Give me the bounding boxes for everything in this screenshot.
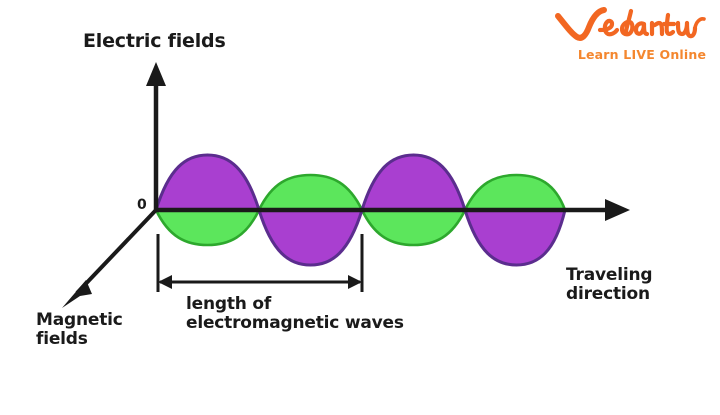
magnetic-fields-label: Magnetic fields <box>36 311 123 349</box>
vedantu-logo: Learn LIVE Online <box>552 4 712 66</box>
origin-label: 0 <box>137 198 147 214</box>
horizontal-axis-arrowhead <box>605 199 630 221</box>
wavelength-label: length of electromagnetic waves <box>186 295 404 333</box>
vedantu-tagline: Learn LIVE Online <box>572 47 712 62</box>
diagram-canvas: Electric fields Magnetic fields length o… <box>0 0 720 415</box>
wavelength-arrowhead-left <box>158 275 172 289</box>
traveling-direction-label: Traveling direction <box>566 266 652 304</box>
electric-fields-label: Electric fields <box>83 31 226 52</box>
vertical-axis-arrowhead <box>146 62 166 86</box>
wavelength-arrowhead-right <box>348 275 362 289</box>
diagonal-axis <box>62 210 156 308</box>
diagonal-axis-arrowhead <box>62 280 92 308</box>
vedantu-wordmark-icon <box>552 4 712 46</box>
